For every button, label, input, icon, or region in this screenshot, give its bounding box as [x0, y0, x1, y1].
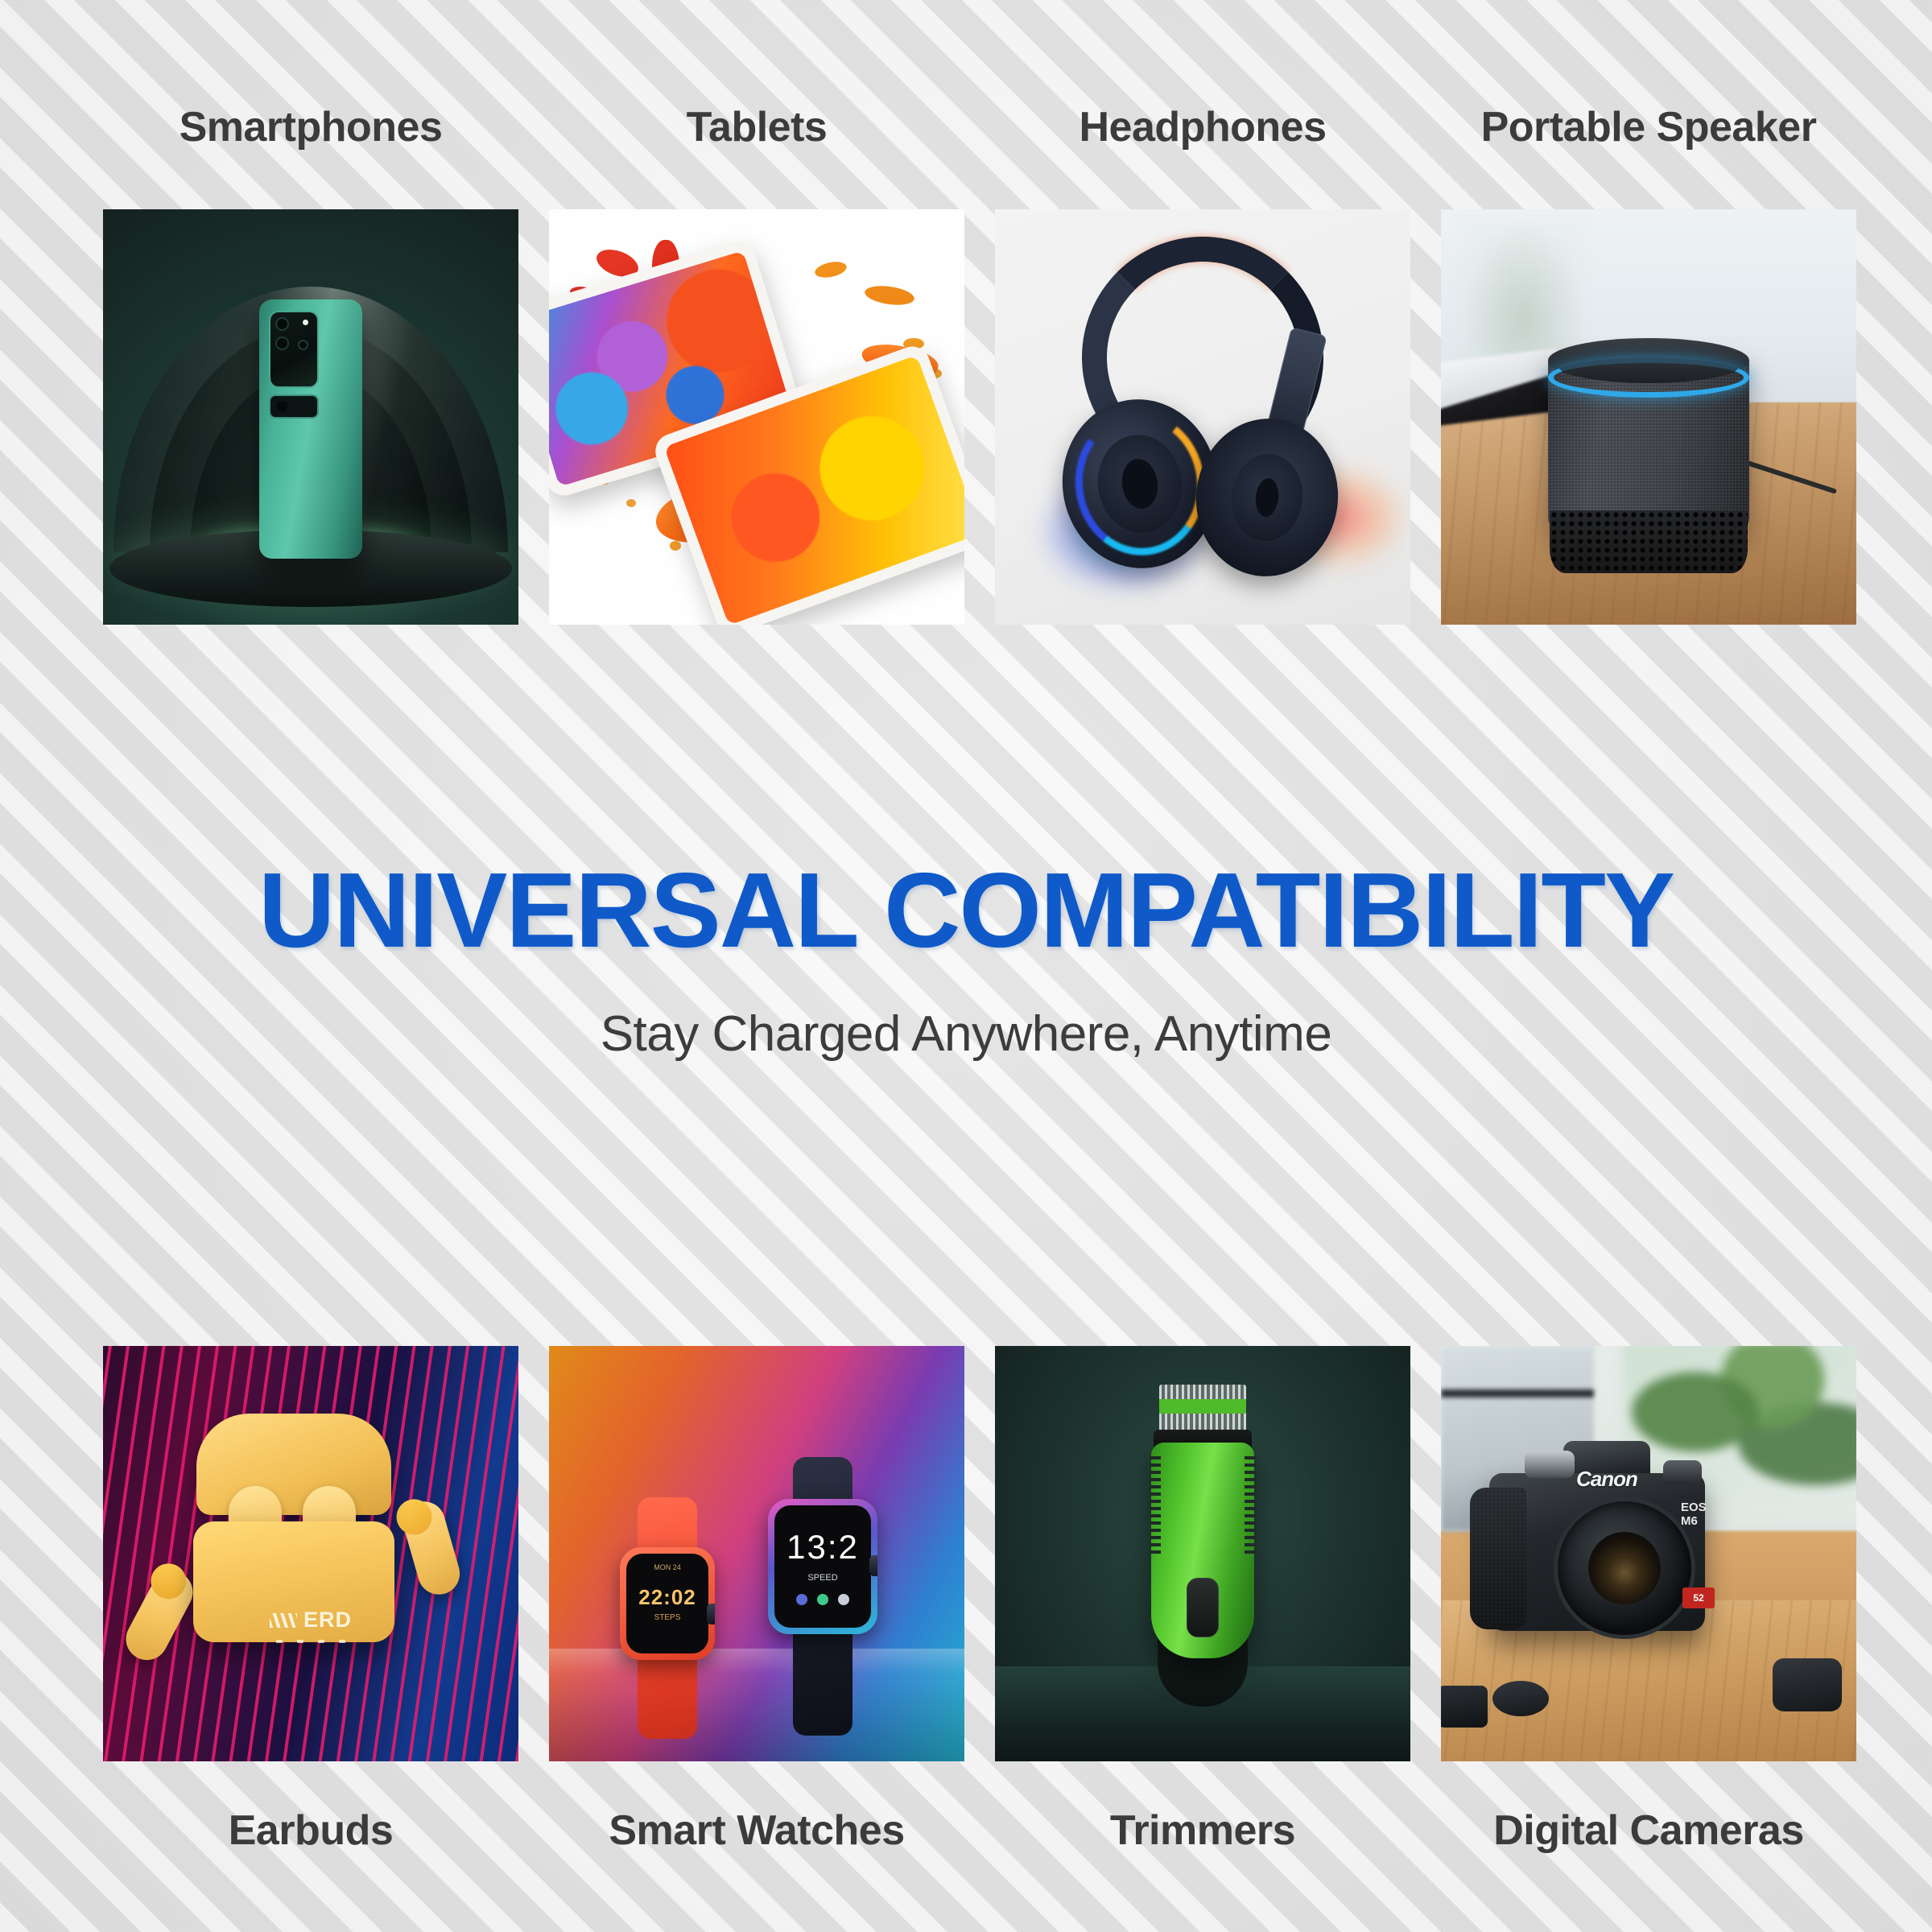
product-label-smart-watches: Smart Watches [609, 1810, 904, 1851]
ear-pad [1228, 451, 1307, 545]
watch-subtext: SPEED [807, 1573, 837, 1583]
paint-splash [670, 541, 681, 551]
speaker-grille [1550, 510, 1748, 573]
camera-lens-icon [275, 317, 289, 331]
smartphone-device [259, 299, 362, 559]
universal-compatibility-infographic: Smartphones Tabl [0, 0, 1932, 1932]
product-cell-earbuds: ERD Earbuds [103, 1346, 518, 1851]
camera-lens-icon [275, 336, 289, 350]
watch-case: 13:2 SPEED [768, 1499, 877, 1634]
product-cell-digital-cameras: Canon EOS M6 52 Digital Cameras [1441, 1346, 1856, 1851]
watch-case: MON 24 22:02 STEPS [620, 1547, 715, 1660]
earbud-left [118, 1564, 200, 1668]
center-text-block: UNIVERSAL COMPATIBILITY Stay Charged Any… [0, 857, 1932, 1063]
smart-watches-product-photo: MON 24 22:02 STEPS 13:2 SPEED [549, 1346, 964, 1761]
watch-screen: 13:2 SPEED [774, 1505, 871, 1628]
paint-splash [814, 259, 848, 280]
paint-splash [626, 499, 636, 507]
watch-status-text: MON 24 [654, 1563, 681, 1571]
product-label-digital-cameras: Digital Cameras [1493, 1810, 1804, 1851]
product-cell-trimmers: Trimmers [995, 1346, 1410, 1851]
digital-camera-product-photo: Canon EOS M6 52 [1441, 1346, 1856, 1761]
camera-model-line2: M6 [1681, 1514, 1698, 1528]
blurred-second-camera [1441, 1346, 1534, 1407]
camera-mode-dial [1525, 1451, 1575, 1478]
battery-led-indicators [276, 1640, 345, 1643]
trimmer-product-photo [995, 1346, 1410, 1761]
secondary-camera-module [269, 394, 319, 419]
camera-red-badge: 52 [1682, 1587, 1715, 1608]
charger-plug [1441, 1686, 1488, 1728]
top-product-row: Smartphones Tabl [103, 209, 1829, 625]
camera-model-text: EOS M6 [1681, 1501, 1707, 1529]
earbud-right [398, 1496, 465, 1600]
lens-glass-element [1588, 1532, 1661, 1604]
erd-brand-text: ERD [303, 1608, 352, 1633]
watch-subtext: STEPS [654, 1613, 681, 1622]
camera-model-line1: EOS [1681, 1501, 1707, 1514]
erd-slash-icon [270, 1613, 297, 1628]
camera-flash-icon [303, 320, 308, 325]
product-cell-smart-watches: MON 24 22:02 STEPS 13:2 SPEED [549, 1346, 964, 1851]
camera-lens-icon [298, 340, 308, 350]
page-title: UNIVERSAL COMPATIBILITY [0, 857, 1932, 964]
product-cell-tablets: Tablets [549, 209, 964, 625]
product-label-earbuds: Earbuds [229, 1810, 394, 1851]
led-ring-light [1548, 357, 1749, 398]
product-label-trimmers: Trimmers [1110, 1810, 1295, 1851]
erd-brand-logo: ERD [270, 1608, 352, 1633]
camera-module [269, 311, 319, 388]
watch-crown-button [869, 1555, 877, 1576]
trimmer-blade-guard [1159, 1399, 1246, 1414]
camera-hand-grip [1470, 1488, 1526, 1629]
earcup-opening [1119, 456, 1161, 511]
earbuds-product-photo: ERD [103, 1346, 518, 1761]
watch-screen: MON 24 22:02 STEPS [626, 1554, 708, 1653]
earcup-opening [1254, 477, 1281, 518]
watch-crown-button [707, 1604, 715, 1624]
headphones-product-photo [995, 209, 1410, 625]
blurred-plant [1462, 219, 1584, 364]
spare-lens [1773, 1658, 1842, 1711]
product-cell-headphones: Headphones [995, 209, 1410, 625]
trimmer-grip-right [1245, 1454, 1256, 1554]
trimmer-power-button [1187, 1578, 1219, 1637]
lens-cap [1492, 1681, 1549, 1716]
camera-control-dial [1663, 1460, 1702, 1484]
smart-watch-dark: 13:2 SPEED [755, 1457, 890, 1736]
canon-brand-text: Canon [1576, 1467, 1637, 1492]
product-cell-portable-speaker: Portable Speaker [1441, 209, 1856, 625]
watch-app-dots [796, 1594, 849, 1605]
smart-watch-red: MON 24 22:02 STEPS [607, 1497, 728, 1739]
paint-splash [864, 283, 915, 308]
charging-case-lid [196, 1414, 391, 1515]
earbud-tip [145, 1558, 193, 1606]
watch-time-text: 13:2 [786, 1528, 859, 1567]
bottom-product-row: ERD Earbuds MON 24 22:02 STEPS [103, 1346, 1829, 1851]
camera-lens [1554, 1497, 1695, 1639]
smartphone-product-photo [103, 209, 518, 625]
trimmer-grip-left [1150, 1454, 1161, 1554]
tablets-product-photo [549, 209, 964, 625]
earbud-tip [392, 1495, 436, 1538]
page-subtitle: Stay Charged Anywhere, Anytime [0, 1005, 1932, 1063]
watch-time-text: 22:02 [638, 1585, 696, 1610]
product-label-portable-speaker: Portable Speaker [786, 106, 1932, 148]
product-cell-smartphones: Smartphones [103, 209, 518, 625]
portable-speaker-product-photo [1441, 209, 1856, 625]
